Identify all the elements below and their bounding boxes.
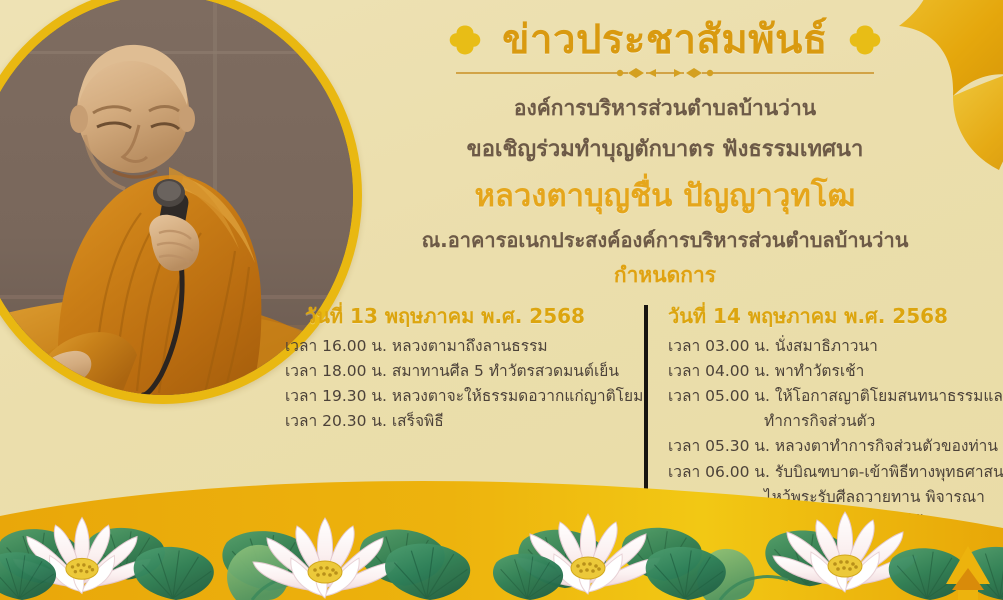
list-item-text: เวลา 06.00 น. รับบิณฑบาต-เข้าพิธีทางพุทธ… (668, 463, 1003, 481)
list-item-text: เวลา 05.00 น. ให้โอกาสญาติโยมสนทนาธรรมแล… (668, 387, 1003, 405)
schedule-column-day1: วันที่ 13 พฤษภาคม พ.ศ. 2568 เวลา 16.00 น… (285, 303, 644, 434)
schedule-date-day1: วันที่ 13 พฤษภาคม พ.ศ. 2568 (285, 303, 630, 329)
schedule-list-day1: เวลา 16.00 น. หลวงตามาถึงลานธรรม เวลา 18… (285, 334, 630, 434)
list-item: เวลา 03.00 น. นั่งสมาธิภาวนา (668, 334, 1003, 359)
list-item-text: เวลา 05.30 น. หลวงตาทำการกิจส่วนตัวของท่… (668, 437, 998, 455)
schedule-heading: กำหนดการ (355, 262, 975, 289)
announcement-poster: ข่าวประชาสัมพันธ์ องค์การบริหารส่วนตำบลบ… (0, 0, 1003, 600)
page-title: ข่าวประชาสัมพันธ์ (502, 18, 828, 63)
list-item-text: เวลา 03.00 น. นั่งสมาธิภาวนา (668, 337, 878, 355)
list-item: เวลา 05.30 น. หลวงตาทำการกิจส่วนตัวของท่… (668, 434, 1003, 459)
schedule-date-day2: วันที่ 14 พฤษภาคม พ.ศ. 2568 (668, 303, 1003, 329)
list-item: เวลา 18.00 น. สมาทานศีล 5 ทำวัตรสวดมนต์เ… (285, 359, 630, 384)
ornamental-divider-icon (450, 65, 880, 81)
list-item-text: เวลา 04.00 น. พาทำวัตรเช้า (668, 362, 864, 380)
list-item: เวลา 05.00 น. ให้โอกาสญาติโยมสนทนาธรรมแล… (668, 384, 1003, 434)
list-item: เวลา 06.00 น. รับบิณฑบาต-เข้าพิธีทางพุทธ… (668, 460, 1003, 535)
list-item-continuation: ทำการกิจส่วนตัว (668, 409, 1003, 434)
title-row: ข่าวประชาสัมพันธ์ (355, 18, 975, 63)
list-item-continuation: ไหว้พระรับศีลถวายทาน พิจารณา (668, 485, 1003, 510)
quatrefoil-flower-icon (448, 23, 482, 57)
temple-roof-ornament (946, 546, 990, 600)
venue-line: ณ.อาคารอเนกประสงค์องค์การบริหารส่วนตำบลบ… (355, 226, 975, 254)
monk-name: หลวงตาบุญชื่น ปัญญาวุทโฒ (355, 176, 975, 216)
list-item: เวลา 19.30 น. หลวงตาจะให้ธรรมดอวากแก่ญาต… (285, 384, 630, 409)
invitation-line: ขอเชิญร่วมทำบุญตักบาตร ฟังธรรมเทศนา (355, 134, 975, 166)
list-item: เวลา 20.30 น. เสร็จพิธี (285, 409, 630, 434)
list-item: เวลา 16.00 น. หลวงตามาถึงลานธรรม (285, 334, 630, 359)
list-item-continuation: อาหาร อนุโมทนาบุญให้พร (668, 510, 1003, 535)
poster-header: ข่าวประชาสัมพันธ์ องค์การบริหารส่วนตำบลบ… (355, 18, 975, 290)
organization-name: องค์การบริหารส่วนตำบลบ้านว่าน (355, 93, 975, 123)
schedule-section: วันที่ 13 พฤษภาคม พ.ศ. 2568 เวลา 16.00 น… (285, 303, 997, 523)
list-item: เวลา 04.00 น. พาทำวัตรเช้า (668, 359, 1003, 384)
schedule-column-day2: วันที่ 14 พฤษภาคม พ.ศ. 2568 เวลา 03.00 น… (648, 303, 1003, 535)
quatrefoil-flower-icon (848, 23, 882, 57)
schedule-list-day2: เวลา 03.00 น. นั่งสมาธิภาวนา เวลา 04.00 … (668, 334, 1003, 535)
